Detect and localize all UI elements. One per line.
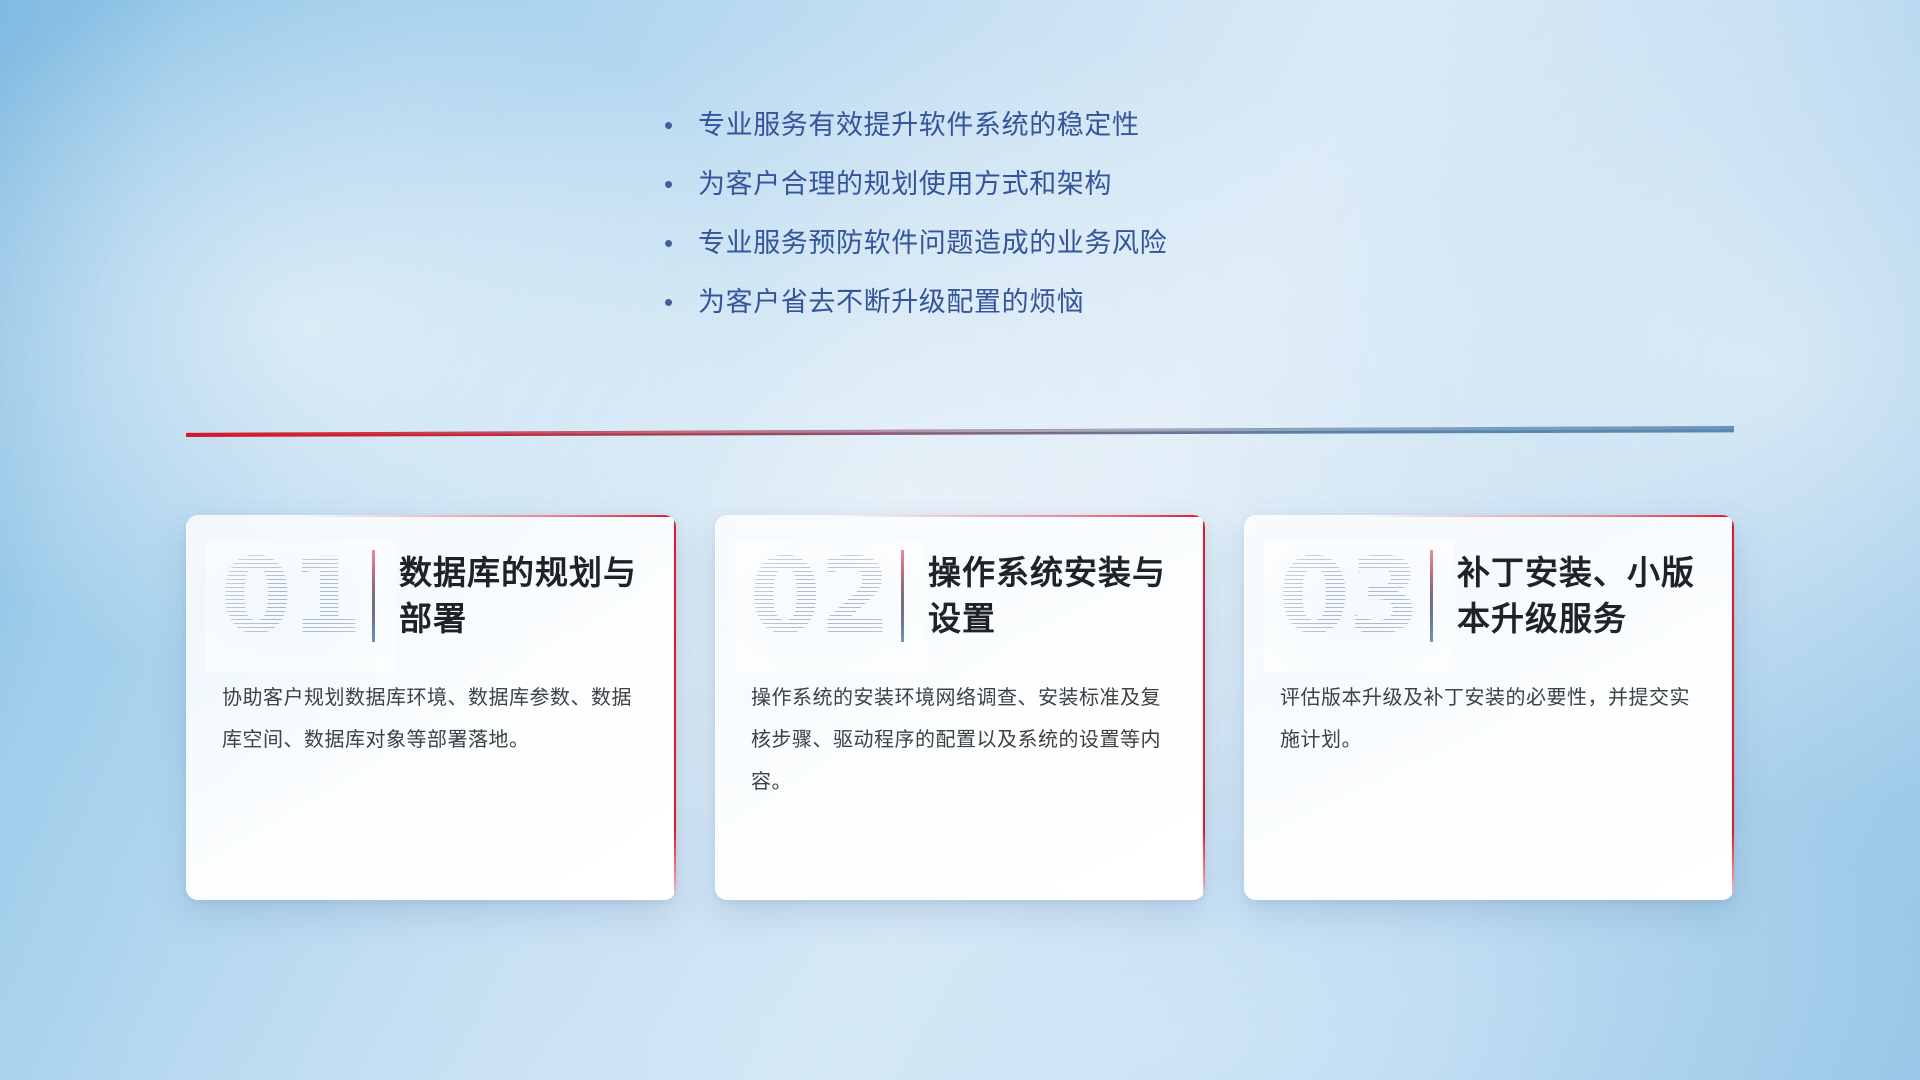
card-title: 操作系统安装与设置 [928, 550, 1196, 642]
service-card-01[interactable]: 01 数据库的规划与部署 协助客户规划数据库环境、数据库参数、数据库空间、数据库… [186, 515, 676, 900]
bullet-dot-icon: • [660, 167, 698, 201]
bullet-dot-icon: • [660, 108, 698, 142]
card-body-text: 操作系统的安装环境网络调查、安装标准及复核步骤、驱动程序的配置以及系统的设置等内… [715, 677, 1205, 803]
card-number-watermark: 01 [220, 540, 368, 652]
card-header: 02 操作系统安装与设置 [715, 515, 1205, 677]
bullet-text: 专业服务预防软件问题造成的业务风险 [698, 226, 1167, 260]
bullet-dot-icon: • [660, 285, 698, 319]
service-card-03[interactable]: 03 补丁安装、小版本升级服务 评估版本升级及补丁安装的必要性，并提交实施计划。 [1244, 515, 1734, 900]
service-card-row: 01 数据库的规划与部署 协助客户规划数据库环境、数据库参数、数据库空间、数据库… [186, 515, 1734, 915]
benefits-bullet-list: • 专业服务有效提升软件系统的稳定性 • 为客户合理的规划使用方式和架构 • 专… [660, 108, 1480, 319]
card-title-divider-bar [1430, 550, 1433, 642]
card-body-text: 评估版本升级及补丁安装的必要性，并提交实施计划。 [1244, 677, 1734, 761]
list-item: • 为客户省去不断升级配置的烦恼 [660, 285, 1480, 319]
card-header: 03 补丁安装、小版本升级服务 [1244, 515, 1734, 677]
section-divider [186, 426, 1734, 440]
bullet-dot-icon: • [660, 226, 698, 260]
list-item: • 专业服务有效提升软件系统的稳定性 [660, 108, 1480, 142]
card-title: 补丁安装、小版本升级服务 [1457, 550, 1725, 642]
card-header: 01 数据库的规划与部署 [186, 515, 676, 677]
bullet-text: 为客户合理的规划使用方式和架构 [698, 167, 1112, 201]
card-title-divider-bar [372, 550, 375, 642]
card-title: 数据库的规划与部署 [399, 550, 667, 642]
list-item: • 专业服务预防软件问题造成的业务风险 [660, 226, 1480, 260]
list-item: • 为客户合理的规划使用方式和架构 [660, 167, 1480, 201]
bullet-text: 专业服务有效提升软件系统的稳定性 [698, 108, 1140, 142]
service-card-02[interactable]: 02 操作系统安装与设置 操作系统的安装环境网络调查、安装标准及复核步骤、驱动程… [715, 515, 1205, 900]
card-number-watermark: 02 [749, 540, 897, 652]
card-title-divider-bar [901, 550, 904, 642]
card-body-text: 协助客户规划数据库环境、数据库参数、数据库空间、数据库对象等部署落地。 [186, 677, 676, 761]
card-number-watermark: 03 [1278, 540, 1426, 652]
bullet-text: 为客户省去不断升级配置的烦恼 [698, 285, 1084, 319]
